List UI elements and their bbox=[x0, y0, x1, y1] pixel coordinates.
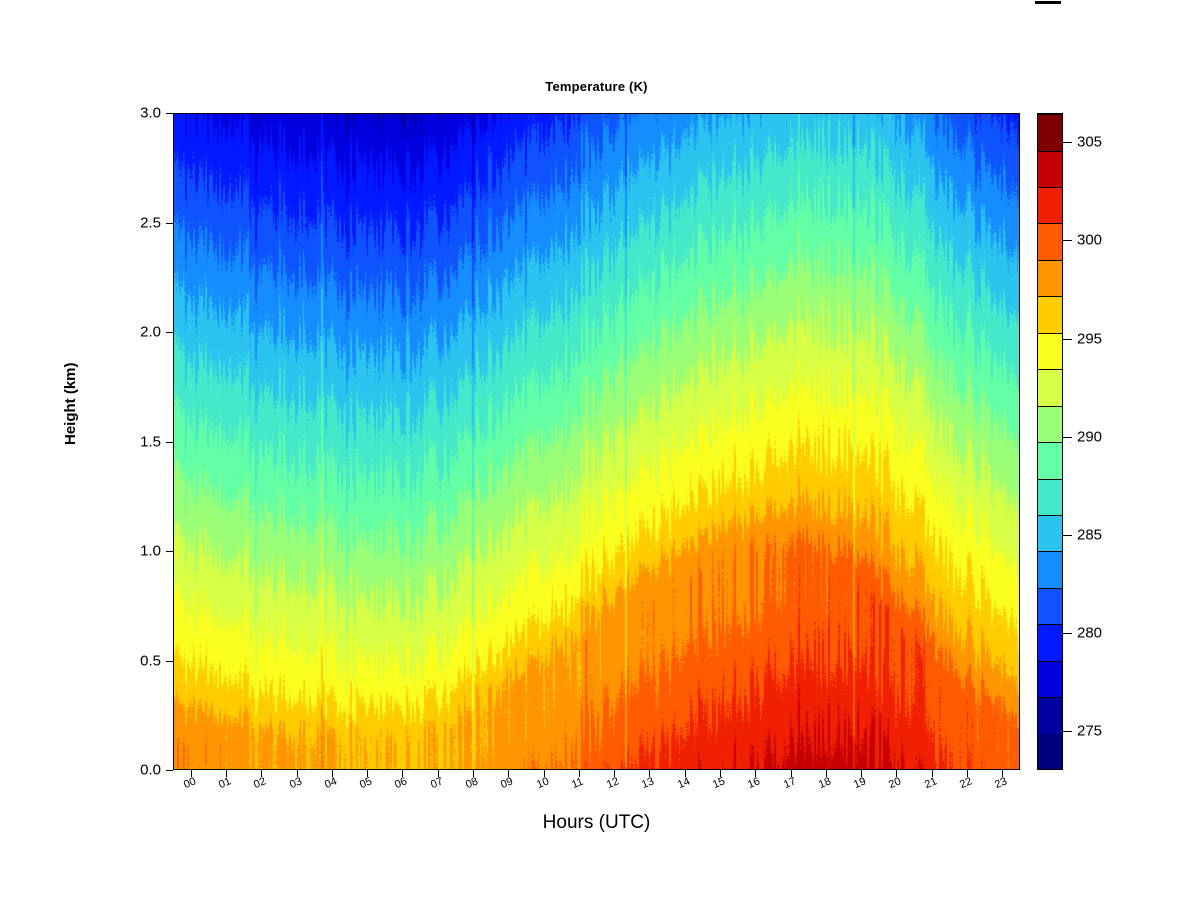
y-tick-mark bbox=[166, 113, 173, 114]
colorbar-swatch bbox=[1038, 260, 1062, 296]
colorbar-swatch bbox=[1038, 187, 1062, 223]
colorbar-tick-label: 305 bbox=[1077, 134, 1102, 151]
colorbar-swatch bbox=[1038, 661, 1062, 697]
x-tick-label: 13 bbox=[640, 775, 656, 791]
colorbar-swatch bbox=[1038, 151, 1062, 187]
y-tick-label: 0.0 bbox=[140, 762, 161, 779]
colorbar-tick-mark bbox=[1063, 633, 1072, 634]
colorbar-ticks: 275280285290295300305 bbox=[1063, 113, 1183, 770]
colorbar-swatch bbox=[1038, 296, 1062, 332]
x-tick-label: 06 bbox=[393, 775, 409, 791]
x-tick-label: 16 bbox=[746, 775, 762, 791]
x-tick-label: 22 bbox=[958, 775, 974, 791]
temperature-heatmap-canvas bbox=[174, 114, 1019, 769]
colorbar-tick-mark bbox=[1063, 240, 1072, 241]
x-tick-label: 09 bbox=[499, 775, 515, 791]
colorbar-tick-label: 295 bbox=[1077, 330, 1102, 347]
y-tick-mark bbox=[166, 223, 173, 224]
colorbar-tick-mark bbox=[1063, 437, 1072, 438]
x-tick-label: 08 bbox=[464, 775, 480, 791]
x-tick-label: 14 bbox=[676, 775, 692, 791]
y-tick-label: 3.0 bbox=[140, 105, 161, 122]
colorbar-swatch bbox=[1038, 515, 1062, 551]
x-tick-label: 15 bbox=[711, 775, 727, 791]
colorbar-swatch bbox=[1038, 551, 1062, 587]
x-tick-label: 12 bbox=[605, 775, 621, 791]
x-tick-label: 05 bbox=[358, 775, 374, 791]
colorbar-tick-mark bbox=[1063, 535, 1072, 536]
colorbar-tick-mark bbox=[1063, 142, 1072, 143]
x-tick-label: 03 bbox=[288, 775, 304, 791]
colorbar-swatch bbox=[1038, 114, 1062, 150]
x-tick-label: 04 bbox=[323, 775, 339, 791]
x-tick-label: 17 bbox=[782, 775, 798, 791]
colorbar-tick-label: 285 bbox=[1077, 526, 1102, 543]
y-tick-mark bbox=[166, 770, 173, 771]
temperature-timeheight-figure: Temperature (K) 0.00.51.01.52.02.53.0 00… bbox=[0, 0, 1200, 900]
colorbar-swatch bbox=[1038, 406, 1062, 442]
x-tick-label: 07 bbox=[429, 775, 445, 791]
x-tick-label: 19 bbox=[852, 775, 868, 791]
y-tick-mark bbox=[166, 332, 173, 333]
colorbar-swatch bbox=[1038, 624, 1062, 660]
colorbar-swatch bbox=[1038, 734, 1062, 769]
colorbar-tick-label: 275 bbox=[1077, 722, 1102, 739]
x-tick-label: 11 bbox=[570, 776, 585, 791]
x-axis-ticks: 0001020304050607080910111213141516171819… bbox=[173, 770, 1020, 810]
colorbar-tick-label: 290 bbox=[1077, 428, 1102, 445]
plot-title: Temperature (K) bbox=[173, 79, 1020, 94]
y-tick-label: 2.5 bbox=[140, 214, 161, 231]
colorbar-swatch bbox=[1038, 479, 1062, 515]
colorbar-tick-mark bbox=[1063, 731, 1072, 732]
colorbar-swatch bbox=[1038, 588, 1062, 624]
colorbar-swatch bbox=[1038, 333, 1062, 369]
x-tick-label: 23 bbox=[993, 775, 1009, 791]
x-tick-label: 18 bbox=[817, 775, 833, 791]
render-artifact-line bbox=[1035, 1, 1061, 4]
y-tick-label: 1.0 bbox=[140, 543, 161, 560]
plot-area bbox=[173, 113, 1020, 770]
colorbar-tick-mark bbox=[1063, 339, 1072, 340]
colorbar: 275280285290295300305 bbox=[1037, 113, 1063, 770]
y-tick-mark bbox=[166, 442, 173, 443]
colorbar-swatch bbox=[1038, 442, 1062, 478]
x-tick-label: 01 bbox=[217, 775, 233, 791]
y-tick-label: 0.5 bbox=[140, 652, 161, 669]
x-tick-label: 02 bbox=[252, 775, 268, 791]
colorbar-swatch bbox=[1038, 697, 1062, 733]
y-tick-mark bbox=[166, 661, 173, 662]
y-tick-label: 2.0 bbox=[140, 324, 161, 341]
x-axis-title: Hours (UTC) bbox=[173, 812, 1020, 834]
colorbar-tick-label: 280 bbox=[1077, 624, 1102, 641]
colorbar-swatches bbox=[1037, 113, 1063, 770]
colorbar-tick-label: 300 bbox=[1077, 232, 1102, 249]
y-tick-label: 1.5 bbox=[140, 433, 161, 450]
colorbar-swatch bbox=[1038, 369, 1062, 405]
x-tick-label: 00 bbox=[182, 775, 198, 791]
x-tick-label: 10 bbox=[535, 775, 551, 791]
y-axis-title: Height (km) bbox=[62, 363, 79, 446]
x-tick-label: 20 bbox=[887, 775, 903, 791]
y-tick-mark bbox=[166, 551, 173, 552]
x-tick-label: 21 bbox=[923, 775, 939, 791]
colorbar-swatch bbox=[1038, 223, 1062, 259]
